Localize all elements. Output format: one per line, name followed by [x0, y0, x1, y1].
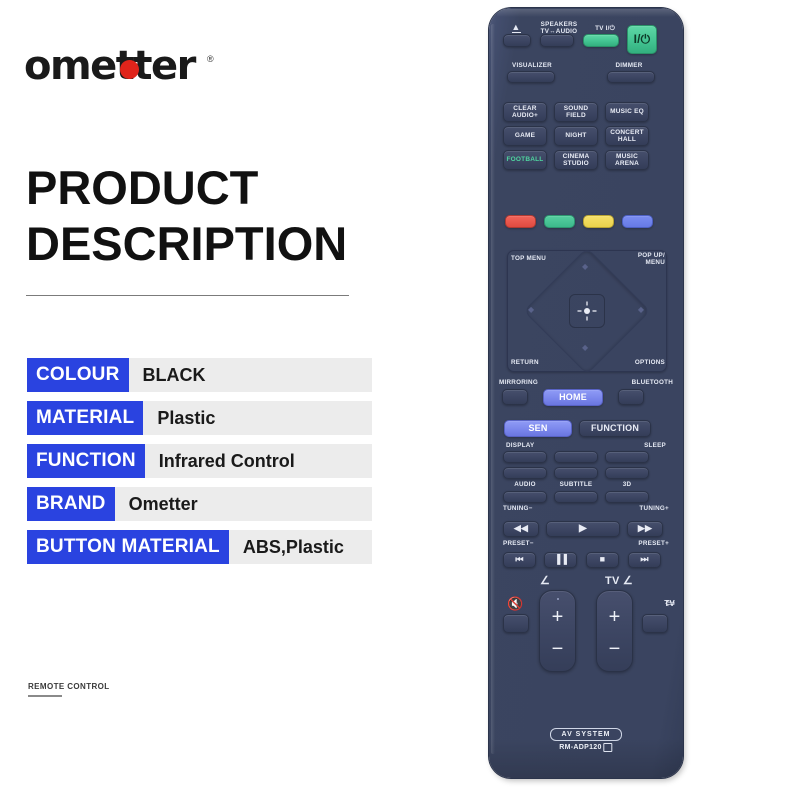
display-label: DISPLAY [506, 442, 534, 449]
arrow-right-icon[interactable]: ◆ [638, 305, 644, 314]
night-button[interactable]: NIGHT [554, 126, 598, 146]
volume-label: ∠ [527, 578, 563, 585]
model-plate: AV SYSTEM [550, 728, 622, 741]
night-label: NIGHT [565, 132, 586, 140]
display-button[interactable] [503, 451, 547, 463]
spec-key: MATERIAL [27, 401, 143, 435]
function-button[interactable]: FUNCTION [579, 420, 651, 437]
eject-button[interactable] [503, 34, 531, 47]
three-d-label: 3D [605, 481, 649, 488]
cinema-studio-label: CINEMASTUDIO [563, 153, 590, 168]
remote-surface: ▲ SPEAKERS TV↔AUDIO TV I/⏻ I/⏻ VISUALIZE… [489, 8, 683, 778]
spec-row: BRAND Ometter [27, 487, 372, 521]
spec-key: BRAND [27, 487, 115, 521]
dimmer-button[interactable] [607, 71, 655, 83]
volume-up-button[interactable]: + [540, 607, 575, 627]
spec-value: Ometter [115, 487, 372, 521]
spec-row: FUNCTION Infrared Control [27, 444, 372, 478]
spec-key: FUNCTION [27, 444, 145, 478]
popup-menu-label-2: MENU [645, 259, 665, 266]
preset-minus-label: PRESET− [503, 540, 534, 547]
visualizer-button[interactable] [507, 71, 555, 83]
spec-row: MATERIAL Plastic [27, 401, 372, 435]
volume-rocker-dot [557, 598, 559, 600]
bluetooth-button[interactable] [618, 389, 644, 405]
game-button[interactable]: GAME [503, 126, 547, 146]
subtitle-label: SUBTITLE [554, 481, 598, 488]
color-button-yellow[interactable] [583, 215, 614, 228]
tv-volume-label: TV ∠ [597, 578, 641, 585]
clear-audio-plus-label: CLEARAUDIO+ [512, 105, 538, 120]
subtitle-button[interactable] [554, 467, 598, 479]
arrow-up-icon[interactable]: ◆ [582, 262, 588, 271]
cinema-studio-button[interactable]: CINEMASTUDIO [554, 150, 598, 170]
color-button-green[interactable] [544, 215, 575, 228]
spec-row: BUTTON MATERIAL ABS,Plastic [27, 530, 372, 564]
music-eq-label: MUSIC EQ [610, 108, 644, 116]
page-title: PRODUCT DESCRIPTION [26, 160, 386, 272]
brand-logo: ometter ® [24, 44, 224, 88]
tuning-plus-label: TUNING+ [639, 505, 669, 512]
spec-table: COLOUR BLACK MATERIAL Plastic FUNCTION I… [27, 358, 372, 573]
tv-volume-down-button[interactable]: − [597, 639, 632, 659]
mirroring-button[interactable] [502, 389, 528, 405]
product-description-panel: ometter ® PRODUCT DESCRIPTION COLOUR BLA… [0, 0, 470, 800]
tuning-plus-button[interactable] [605, 491, 649, 503]
mirroring-label: MIRRORING [499, 379, 538, 386]
clear-audio-plus-button[interactable]: CLEARAUDIO+ [503, 102, 547, 122]
play-button[interactable]: ▶ [546, 521, 620, 537]
speakers-label-line1: SPEAKERS [533, 21, 585, 28]
music-eq-button[interactable]: MUSIC EQ [605, 102, 649, 122]
mute-icon: 🔇 [507, 596, 523, 612]
certification-mark-icon [604, 743, 613, 752]
title-divider [26, 295, 349, 296]
spec-value: ABS,Plastic [229, 530, 372, 564]
enter-button[interactable] [569, 294, 605, 328]
sen-button[interactable]: SEN [504, 420, 572, 437]
power-button[interactable]: I/⏻ [627, 25, 657, 54]
spec-key: COLOUR [27, 358, 129, 392]
page-title-line-1: PRODUCT [26, 160, 386, 216]
visualizer-label: VISUALIZER [497, 62, 567, 69]
tv-input-button[interactable] [642, 614, 668, 633]
previous-button[interactable]: ⏮ [503, 552, 536, 568]
red-dot-icon [120, 60, 139, 79]
sound-field-label: SOUNDFIELD [564, 105, 588, 120]
home-button[interactable]: HOME [543, 389, 603, 406]
footer-caption-text: REMOTE CONTROL [28, 682, 110, 691]
spec-value: Plastic [143, 401, 372, 435]
speakers-tv-audio-button[interactable] [540, 34, 574, 47]
audio-button[interactable] [503, 467, 547, 479]
sound-field-button[interactable]: SOUNDFIELD [554, 102, 598, 122]
unlabeled-button-tuning-mid[interactable] [554, 491, 598, 503]
footer-caption: REMOTE CONTROL [28, 682, 110, 697]
tv-input-icon: ⇦ [665, 596, 675, 610]
remote-left-highlight [491, 24, 495, 754]
audio-label: AUDIO [503, 481, 547, 488]
volume-down-button[interactable]: − [540, 639, 575, 659]
music-arena-button[interactable]: MUSICARENA [605, 150, 649, 170]
eject-icon: ▲ [501, 24, 531, 33]
footer-caption-rule [28, 695, 62, 697]
tv-power-button[interactable] [583, 34, 619, 47]
trademark-symbol: ® [207, 54, 214, 64]
spec-row: COLOUR BLACK [27, 358, 372, 392]
tuning-minus-button[interactable] [503, 491, 547, 503]
football-label: FOOTBALL [507, 156, 544, 164]
top-menu-label: TOP MENU [511, 255, 546, 262]
concert-hall-button[interactable]: CONCERTHALL [605, 126, 649, 146]
tv-power-label: TV I/⏻ [587, 25, 623, 32]
game-label: GAME [515, 132, 535, 140]
arrow-left-icon[interactable]: ◆ [528, 305, 534, 314]
pause-button[interactable]: ▐▐ [544, 552, 577, 568]
sleep-label: SLEEP [644, 442, 666, 449]
enter-crosshair-icon [576, 300, 598, 322]
color-button-red[interactable] [505, 215, 536, 228]
spec-value: BLACK [129, 358, 372, 392]
spec-key: BUTTON MATERIAL [27, 530, 229, 564]
remote-control-device: ▲ SPEAKERS TV↔AUDIO TV I/⏻ I/⏻ VISUALIZE… [489, 8, 683, 778]
rewind-button[interactable]: ◀◀ [503, 521, 539, 537]
page-title-line-2: DESCRIPTION [26, 216, 386, 272]
unlabeled-button-mid[interactable] [554, 451, 598, 463]
preset-plus-label: PRESET+ [638, 540, 669, 547]
bluetooth-label: BLUETOOTH [632, 379, 673, 386]
football-button[interactable]: FOOTBALL [503, 150, 547, 170]
next-button[interactable]: ⏭ [628, 552, 661, 568]
model-number: RM-ADP120 [559, 743, 612, 752]
dimmer-label: DIMMER [599, 62, 659, 69]
fast-forward-button[interactable]: ▶▶ [627, 521, 663, 537]
music-arena-label: MUSICARENA [615, 153, 639, 168]
stop-button[interactable]: ■ [586, 552, 619, 568]
sleep-button[interactable] [605, 451, 649, 463]
return-label: RETURN [511, 359, 539, 366]
three-d-button[interactable] [605, 467, 649, 479]
mute-button[interactable] [503, 614, 529, 633]
model-number-text: RM-ADP120 [559, 744, 601, 751]
volume-rocker[interactable]: + − [539, 590, 576, 672]
tv-volume-up-button[interactable]: + [597, 607, 632, 627]
tv-volume-rocker[interactable]: + − [596, 590, 633, 672]
remote-top-highlight [497, 9, 675, 17]
concert-hall-label: CONCERTHALL [610, 129, 644, 144]
options-label: OPTIONS [635, 359, 665, 366]
navigation-cluster: ◆ ◆ ◆ ◆ TOP MENU POP UP/ MENU RETURN OPT… [501, 246, 671, 374]
spec-value: Infrared Control [145, 444, 372, 478]
tuning-minus-label: TUNING− [503, 505, 533, 512]
popup-menu-label-1: POP UP/ [638, 252, 665, 259]
color-button-blue[interactable] [622, 215, 653, 228]
arrow-down-icon[interactable]: ◆ [582, 343, 588, 352]
